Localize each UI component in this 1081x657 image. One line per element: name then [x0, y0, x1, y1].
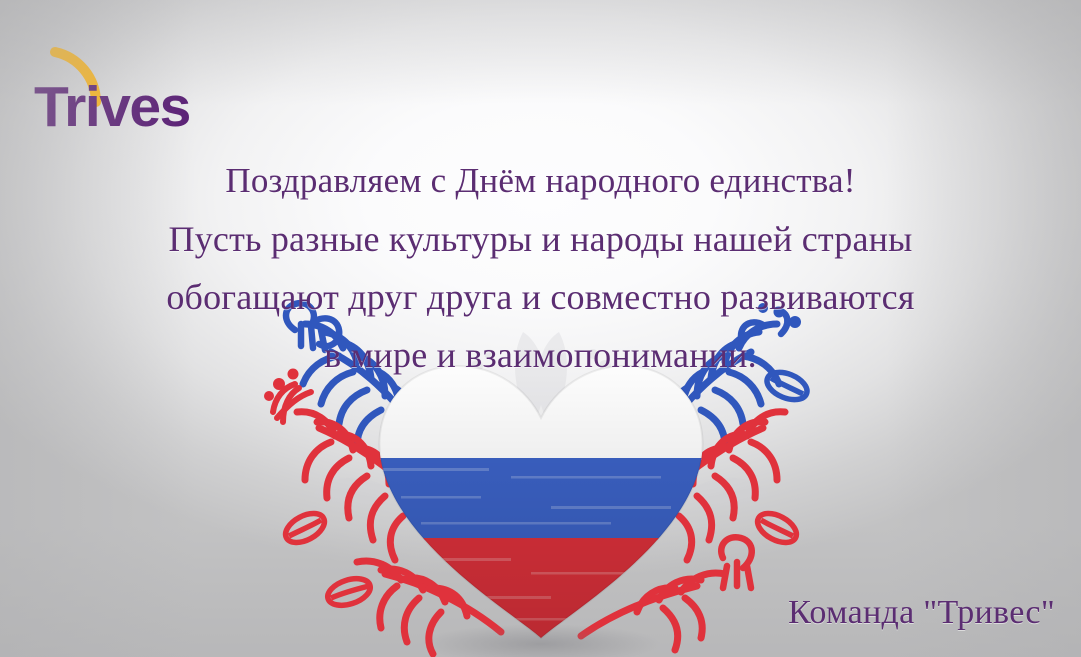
greeting-message: Поздравляем с Днём народного единства! П…	[0, 152, 1081, 384]
message-line-1: Поздравляем с Днём народного единства!	[0, 152, 1081, 210]
message-line-3: обогащают друг друга и совместно развива…	[0, 268, 1081, 326]
trives-wordmark: Trives	[34, 75, 190, 138]
red-flower-icon	[721, 537, 752, 588]
message-line-2: Пусть разные культуры и народы нашей стр…	[0, 210, 1081, 268]
signature: Команда "Тривес"	[788, 594, 1055, 632]
greeting-card: Trives	[0, 0, 1081, 657]
trives-logo[interactable]: Trives	[34, 28, 234, 138]
message-line-4: в мире и взаимопонимании.	[0, 326, 1081, 384]
